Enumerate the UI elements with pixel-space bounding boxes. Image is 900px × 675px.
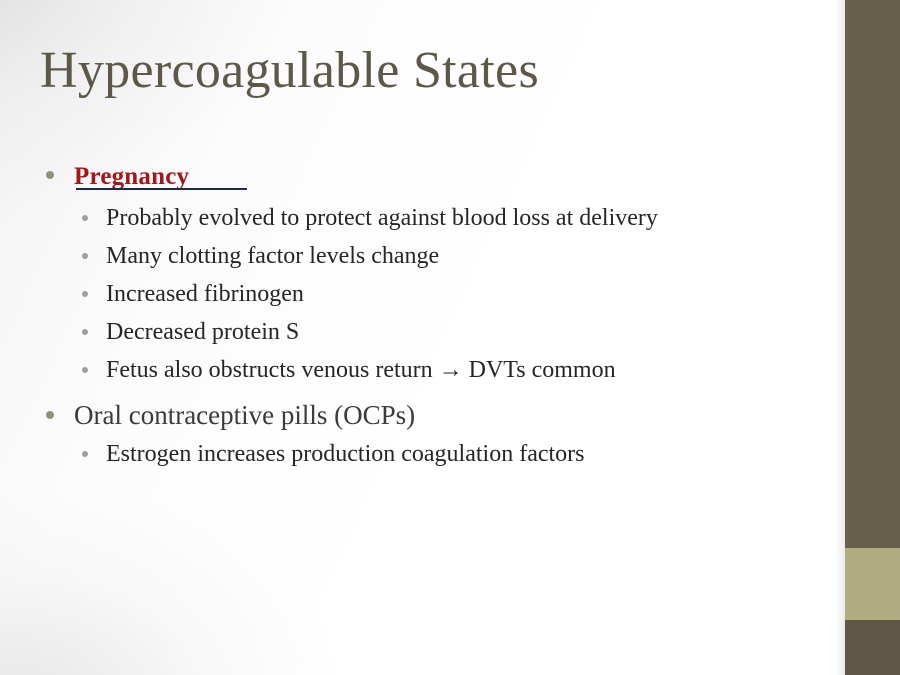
bullet-dot-icon	[82, 215, 88, 221]
slide-title-text: Hypercoagulable States	[40, 42, 539, 99]
bullet-level1-ocps: Oral contraceptive pills (OCPs)	[40, 398, 830, 433]
bullet-level2-label: Fetus also obstructs venous return → DVT…	[106, 357, 616, 383]
sidebar-segment-upper	[845, 0, 900, 548]
bullet-level1-pregnancy: Pregnancy	[40, 158, 830, 194]
sidebar-segment-lower	[845, 620, 900, 675]
bullet-dot-icon	[82, 253, 88, 259]
bullet-dot-icon	[82, 291, 88, 297]
bullet-level2: Estrogen increases production coagulatio…	[40, 436, 830, 473]
bullet-level2: Increased fibrinogen	[40, 276, 830, 313]
sidebar-segment-accent	[845, 548, 900, 620]
emphasis-underline	[76, 188, 247, 190]
list-spacer	[40, 390, 830, 398]
sidebar-edge-highlight	[835, 0, 845, 675]
bullet-level1-label: Oral contraceptive pills (OCPs)	[74, 400, 415, 430]
bullet-level2-label: Decreased protein S	[106, 319, 299, 345]
bullet-dot-icon	[46, 411, 54, 419]
sublist-ocps: Estrogen increases production coagulatio…	[40, 436, 830, 473]
bullet-dot-icon	[82, 451, 88, 457]
slide-title: Hypercoagulable States	[40, 44, 539, 99]
bullet-level2: Fetus also obstructs venous return → DVT…	[40, 352, 830, 389]
slide-body: Pregnancy Probably evolved to protect ag…	[40, 158, 830, 474]
sublist-pregnancy: Probably evolved to protect against bloo…	[40, 200, 830, 390]
bullet-level2: Decreased protein S	[40, 314, 830, 351]
bullet-level1-label: Pregnancy	[74, 163, 189, 190]
bullet-level2-label: Many clotting factor levels change	[106, 243, 439, 269]
bullet-level2-label: Probably evolved to protect against bloo…	[106, 205, 658, 231]
decorative-sidebar	[845, 0, 900, 675]
bullet-level2-label: Increased fibrinogen	[106, 281, 304, 307]
slide-canvas: Hypercoagulable States Pregnancy Probabl…	[0, 0, 900, 675]
bullet-level2-label: Estrogen increases production coagulatio…	[106, 441, 585, 467]
bullet-dot-icon	[82, 329, 88, 335]
bullet-level2: Probably evolved to protect against bloo…	[40, 200, 830, 237]
bullet-dot-icon	[82, 367, 88, 373]
bullet-dot-icon	[46, 171, 54, 179]
bullet-level2: Many clotting factor levels change	[40, 238, 830, 275]
